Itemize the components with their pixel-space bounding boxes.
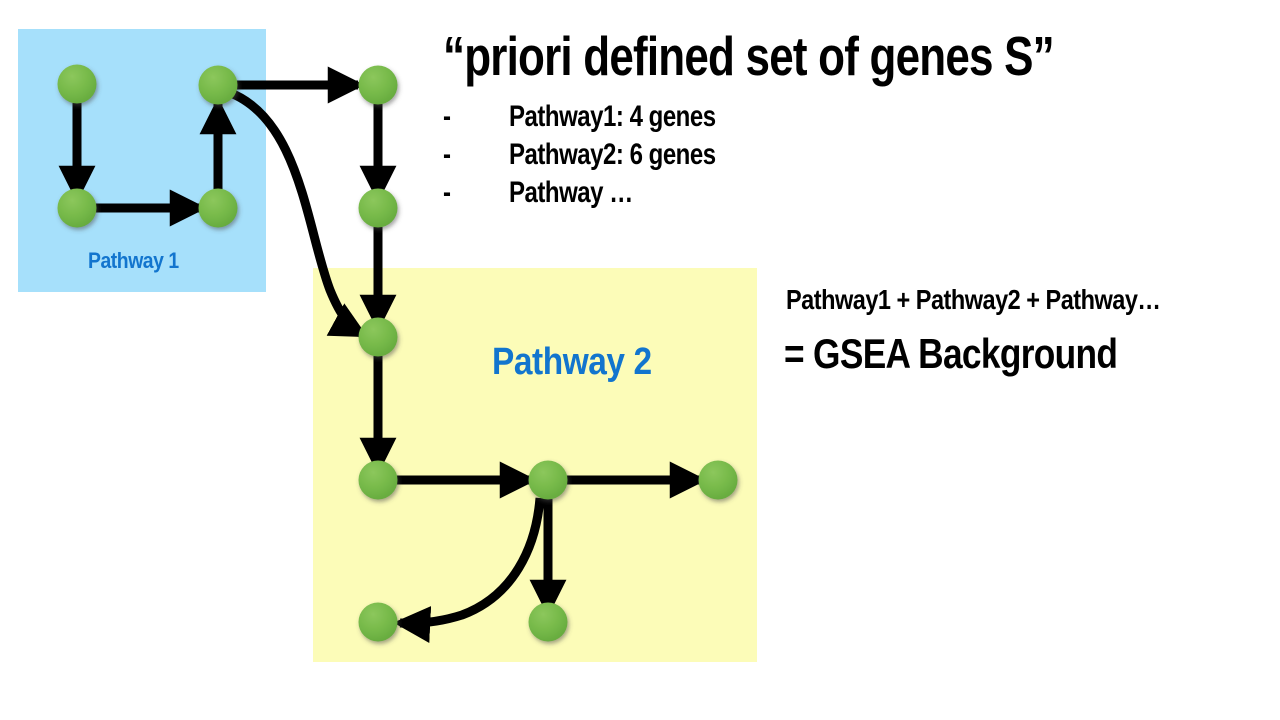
bullet-label: Pathway1: 4 genes — [509, 100, 716, 134]
list-item: - Pathway2: 6 genes — [443, 138, 963, 176]
pathway-1-label: Pathway 1 — [88, 248, 179, 274]
gene-node — [359, 189, 398, 228]
gene-node — [529, 461, 568, 500]
pathway-2-label: Pathway 2 — [492, 341, 652, 384]
gene-node — [199, 189, 238, 228]
gene-set-bullet-list: - Pathway1: 4 genes - Pathway2: 6 genes … — [443, 100, 963, 214]
gene-node — [359, 66, 398, 105]
slide-canvas: Pathway 1 Pathway 2 “priori defined set … — [0, 0, 1280, 720]
gene-node — [359, 603, 398, 642]
bullet-label: Pathway … — [509, 176, 633, 210]
bullet-dash-icon: - — [443, 100, 451, 134]
gene-node — [199, 66, 238, 105]
bullet-dash-icon: - — [443, 138, 451, 172]
pathway-sum-line: Pathway1 + Pathway2 + Pathway… — [786, 284, 1160, 316]
gene-node — [699, 461, 738, 500]
gene-node — [359, 318, 398, 357]
bullet-label: Pathway2: 6 genes — [509, 138, 716, 172]
list-item: - Pathway … — [443, 176, 963, 214]
slide-title: “priori defined set of genes S” — [443, 24, 1054, 88]
gene-node — [529, 603, 568, 642]
edge-p1n4-p2n1-curved — [228, 92, 362, 334]
gene-node — [359, 461, 398, 500]
list-item: - Pathway1: 4 genes — [443, 100, 963, 138]
gene-node — [58, 189, 97, 228]
edge-p2n3-p2n5-curved — [400, 498, 540, 623]
gene-node — [58, 65, 97, 104]
bullet-dash-icon: - — [443, 176, 451, 210]
gsea-background-line: = GSEA Background — [784, 330, 1117, 378]
